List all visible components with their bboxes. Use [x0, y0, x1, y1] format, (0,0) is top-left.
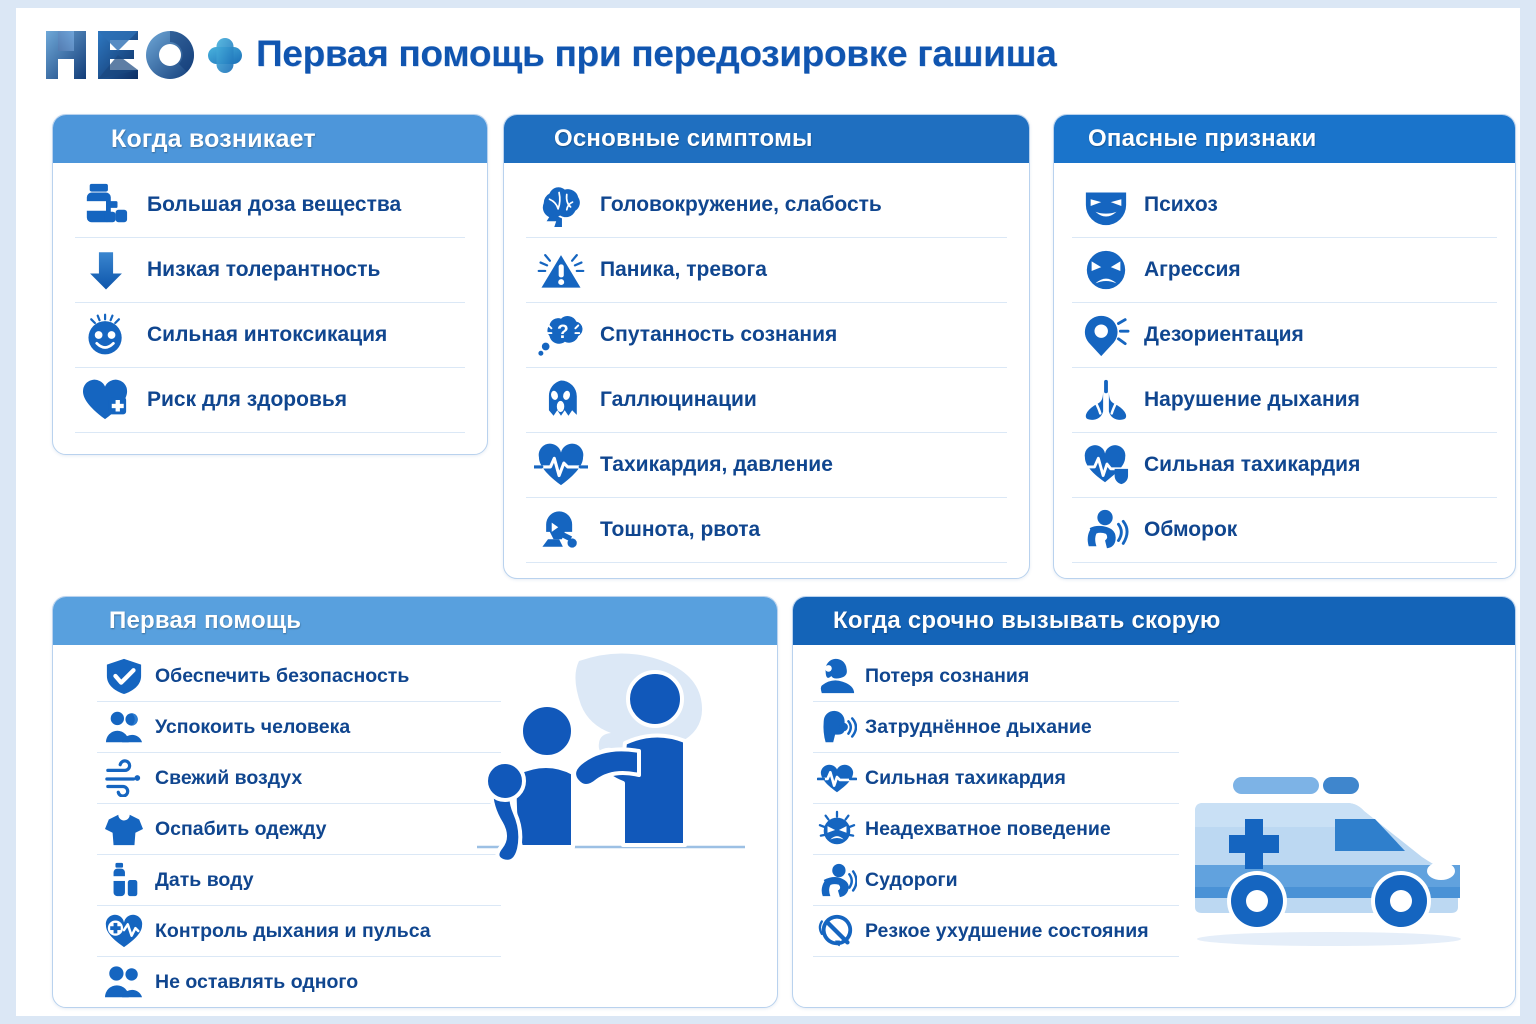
- two-people-icon: [97, 960, 151, 1004]
- two-people-icon: [97, 705, 151, 749]
- list-item[interactable]: Сильная тахикардия: [813, 753, 1179, 804]
- down-arrow-icon: [75, 242, 137, 298]
- list-item[interactable]: Потеря сознания: [813, 651, 1179, 702]
- card-danger-body: Психоз Агрессия: [1054, 163, 1515, 575]
- list-item[interactable]: Дезориентация: [1072, 303, 1497, 368]
- list-item[interactable]: Тахикардия, давление: [526, 433, 1007, 498]
- warning-triangle-icon: [526, 242, 596, 298]
- heart-cross-pulse-icon: [97, 909, 151, 953]
- list-item[interactable]: ? Спутанность сознания: [526, 303, 1007, 368]
- list-item-label: Психоз: [1144, 193, 1218, 217]
- list-item[interactable]: Резкое ухудшение состояния: [813, 906, 1179, 957]
- card-when-body: Большая доза вещества Низкая толерантнос…: [53, 163, 487, 445]
- vomiting-head-icon: [526, 502, 596, 558]
- list-item[interactable]: Сильная тахикардия: [1072, 433, 1497, 498]
- ambulance-illustration: [1169, 761, 1489, 951]
- list-item-label: Контроль дыхания и пульса: [155, 920, 431, 943]
- list-item-label: Неадехватное поведение: [865, 818, 1111, 841]
- page-title: Первая помощь при передозировке гашиша: [256, 33, 1056, 75]
- heart-pulse-icon: [526, 437, 596, 493]
- list-item-label: Успокоить человека: [155, 716, 350, 739]
- unconscious-person-icon: [813, 654, 861, 698]
- dizzy-head-pin-icon: [1072, 307, 1140, 363]
- wind-icon: [97, 756, 151, 800]
- card-when-it-occurs: Когда возникает Большая доза вещества: [52, 114, 488, 455]
- list-item-label: Галлюцинации: [600, 388, 757, 412]
- list-item-label: Оспабить одежду: [155, 818, 327, 841]
- heart-pulse-icon: [813, 756, 861, 800]
- list-item[interactable]: Успокоить человека: [97, 702, 501, 753]
- list-item-label: Сильная тахикардия: [1144, 453, 1360, 477]
- fainting-person-icon: [1072, 502, 1140, 558]
- card-firstaid-title: Первая помощь: [53, 597, 777, 645]
- brain-head-icon: [526, 177, 596, 233]
- list-item[interactable]: Тошнота, рвота: [526, 498, 1007, 563]
- worsening-state-icon: [813, 909, 861, 953]
- list-item[interactable]: Дать воду: [97, 855, 501, 906]
- list-item-label: Резкое ухудшение состояния: [865, 920, 1149, 943]
- page-header: Первая помощь при передозировке гашиша: [16, 8, 1520, 100]
- ghost-icon: [526, 372, 596, 428]
- svg-text:?: ?: [557, 322, 569, 343]
- list-item-label: Свежий воздух: [155, 767, 302, 790]
- list-item-label: Нарушение дыхания: [1144, 388, 1360, 412]
- pill-bottle-icon: [75, 177, 137, 233]
- list-item[interactable]: Контроль дыхания и пульса: [97, 906, 501, 957]
- card-danger-title: Опасные признаки: [1054, 115, 1515, 163]
- list-item-label: Обеспечить безопасность: [155, 665, 409, 688]
- list-item-label: Потеря сознания: [865, 665, 1029, 688]
- list-item[interactable]: Нарушение дыхания: [1072, 368, 1497, 433]
- list-item-label: Судороги: [865, 869, 958, 892]
- list-item[interactable]: Галлюцинации: [526, 368, 1007, 433]
- list-item-label: Тошнота, рвота: [600, 518, 760, 542]
- list-item-label: Паника, тревога: [600, 258, 767, 282]
- card-when-title: Когда возникает: [53, 115, 487, 163]
- infographic-page: Первая помощь при передозировке гашиша К…: [16, 8, 1520, 1016]
- list-item-label: Дезориентация: [1144, 323, 1304, 347]
- list-item[interactable]: Судороги: [813, 855, 1179, 906]
- shield-check-icon: [97, 654, 151, 698]
- list-item-label: Низкая толерантность: [147, 258, 380, 282]
- card-symptoms-body: Головокружение, слабость Паника, тревога: [504, 163, 1029, 575]
- neo-plus-logo: [42, 21, 242, 87]
- dizzy-face-icon: [75, 307, 137, 363]
- list-item-label: Риск для здоровья: [147, 388, 347, 412]
- list-item-label: Сильная тахикардия: [865, 767, 1066, 790]
- question-cloud-icon: ?: [526, 307, 596, 363]
- list-item[interactable]: Свежий воздух: [97, 753, 501, 804]
- list-item[interactable]: Агрессия: [1072, 238, 1497, 303]
- list-item-label: Сильная интоксикация: [147, 323, 387, 347]
- heart-cross-icon: [75, 372, 137, 428]
- card-when-to-call-ambulance: Когда срочно вызывать скорую Потеря созн…: [792, 596, 1516, 1008]
- card-call-title: Когда срочно вызывать скорую: [793, 597, 1515, 645]
- heart-pulse-icon: [1072, 437, 1140, 493]
- list-item[interactable]: Неадехватное поведение: [813, 804, 1179, 855]
- card-symptoms-title: Основные симптомы: [504, 115, 1029, 163]
- list-item-label: Дать воду: [155, 869, 254, 892]
- list-item[interactable]: Затруднённое дыхание: [813, 702, 1179, 753]
- card-firstaid-body: Обеспечить безопасность Успокоить челове…: [53, 645, 777, 1007]
- lungs-icon: [1072, 372, 1140, 428]
- list-item-label: Спутанность сознания: [600, 323, 837, 347]
- list-item-label: Агрессия: [1144, 258, 1241, 282]
- list-item-label: Головокружение, слабость: [600, 193, 882, 217]
- list-item[interactable]: Головокружение, слабость: [526, 173, 1007, 238]
- list-item-label: Обморок: [1144, 518, 1237, 542]
- water-bottle-icon: [97, 858, 151, 902]
- first-aid-list: Обеспечить безопасность Успокоить челове…: [97, 651, 501, 1008]
- list-item-label: Не оставлять одного: [155, 971, 358, 994]
- card-first-aid: Первая помощь Обеспечить безопасность: [52, 596, 778, 1008]
- list-item-label: Тахикардия, давление: [600, 453, 833, 477]
- tshirt-icon: [97, 807, 151, 851]
- card-call-body: Потеря сознания Затруднённое дыхание: [793, 645, 1515, 1007]
- agitated-face-icon: [813, 807, 861, 851]
- list-item-label: Затруднённое дыхание: [865, 716, 1092, 739]
- list-item[interactable]: Паника, тревога: [526, 238, 1007, 303]
- list-item[interactable]: Низкая толерантность: [75, 238, 465, 303]
- list-item[interactable]: Оспабить одежду: [97, 804, 501, 855]
- call-ambulance-list: Потеря сознания Затруднённое дыхание: [813, 651, 1179, 957]
- list-item[interactable]: Сильная интоксикация: [75, 303, 465, 368]
- list-item[interactable]: Обеспечить безопасность: [97, 651, 501, 702]
- list-item[interactable]: Не оставлять одного: [97, 957, 501, 1008]
- two-people-supporting-illustration: [461, 647, 761, 883]
- card-dangerous-signs: Опасные признаки Психоз: [1053, 114, 1516, 579]
- angry-face-icon: [1072, 242, 1140, 298]
- card-main-symptoms: Основные симптомы Головокружение, слабос…: [503, 114, 1030, 579]
- list-item[interactable]: Риск для здоровья: [75, 368, 465, 433]
- list-item[interactable]: Большая доза вещества: [75, 173, 465, 238]
- list-item-label: Большая доза вещества: [147, 193, 401, 217]
- seizure-person-icon: [813, 858, 861, 902]
- list-item[interactable]: Обморок: [1072, 498, 1497, 563]
- list-item[interactable]: Психоз: [1072, 173, 1497, 238]
- evil-mask-icon: [1072, 177, 1140, 233]
- breathing-difficulty-icon: [813, 705, 861, 749]
